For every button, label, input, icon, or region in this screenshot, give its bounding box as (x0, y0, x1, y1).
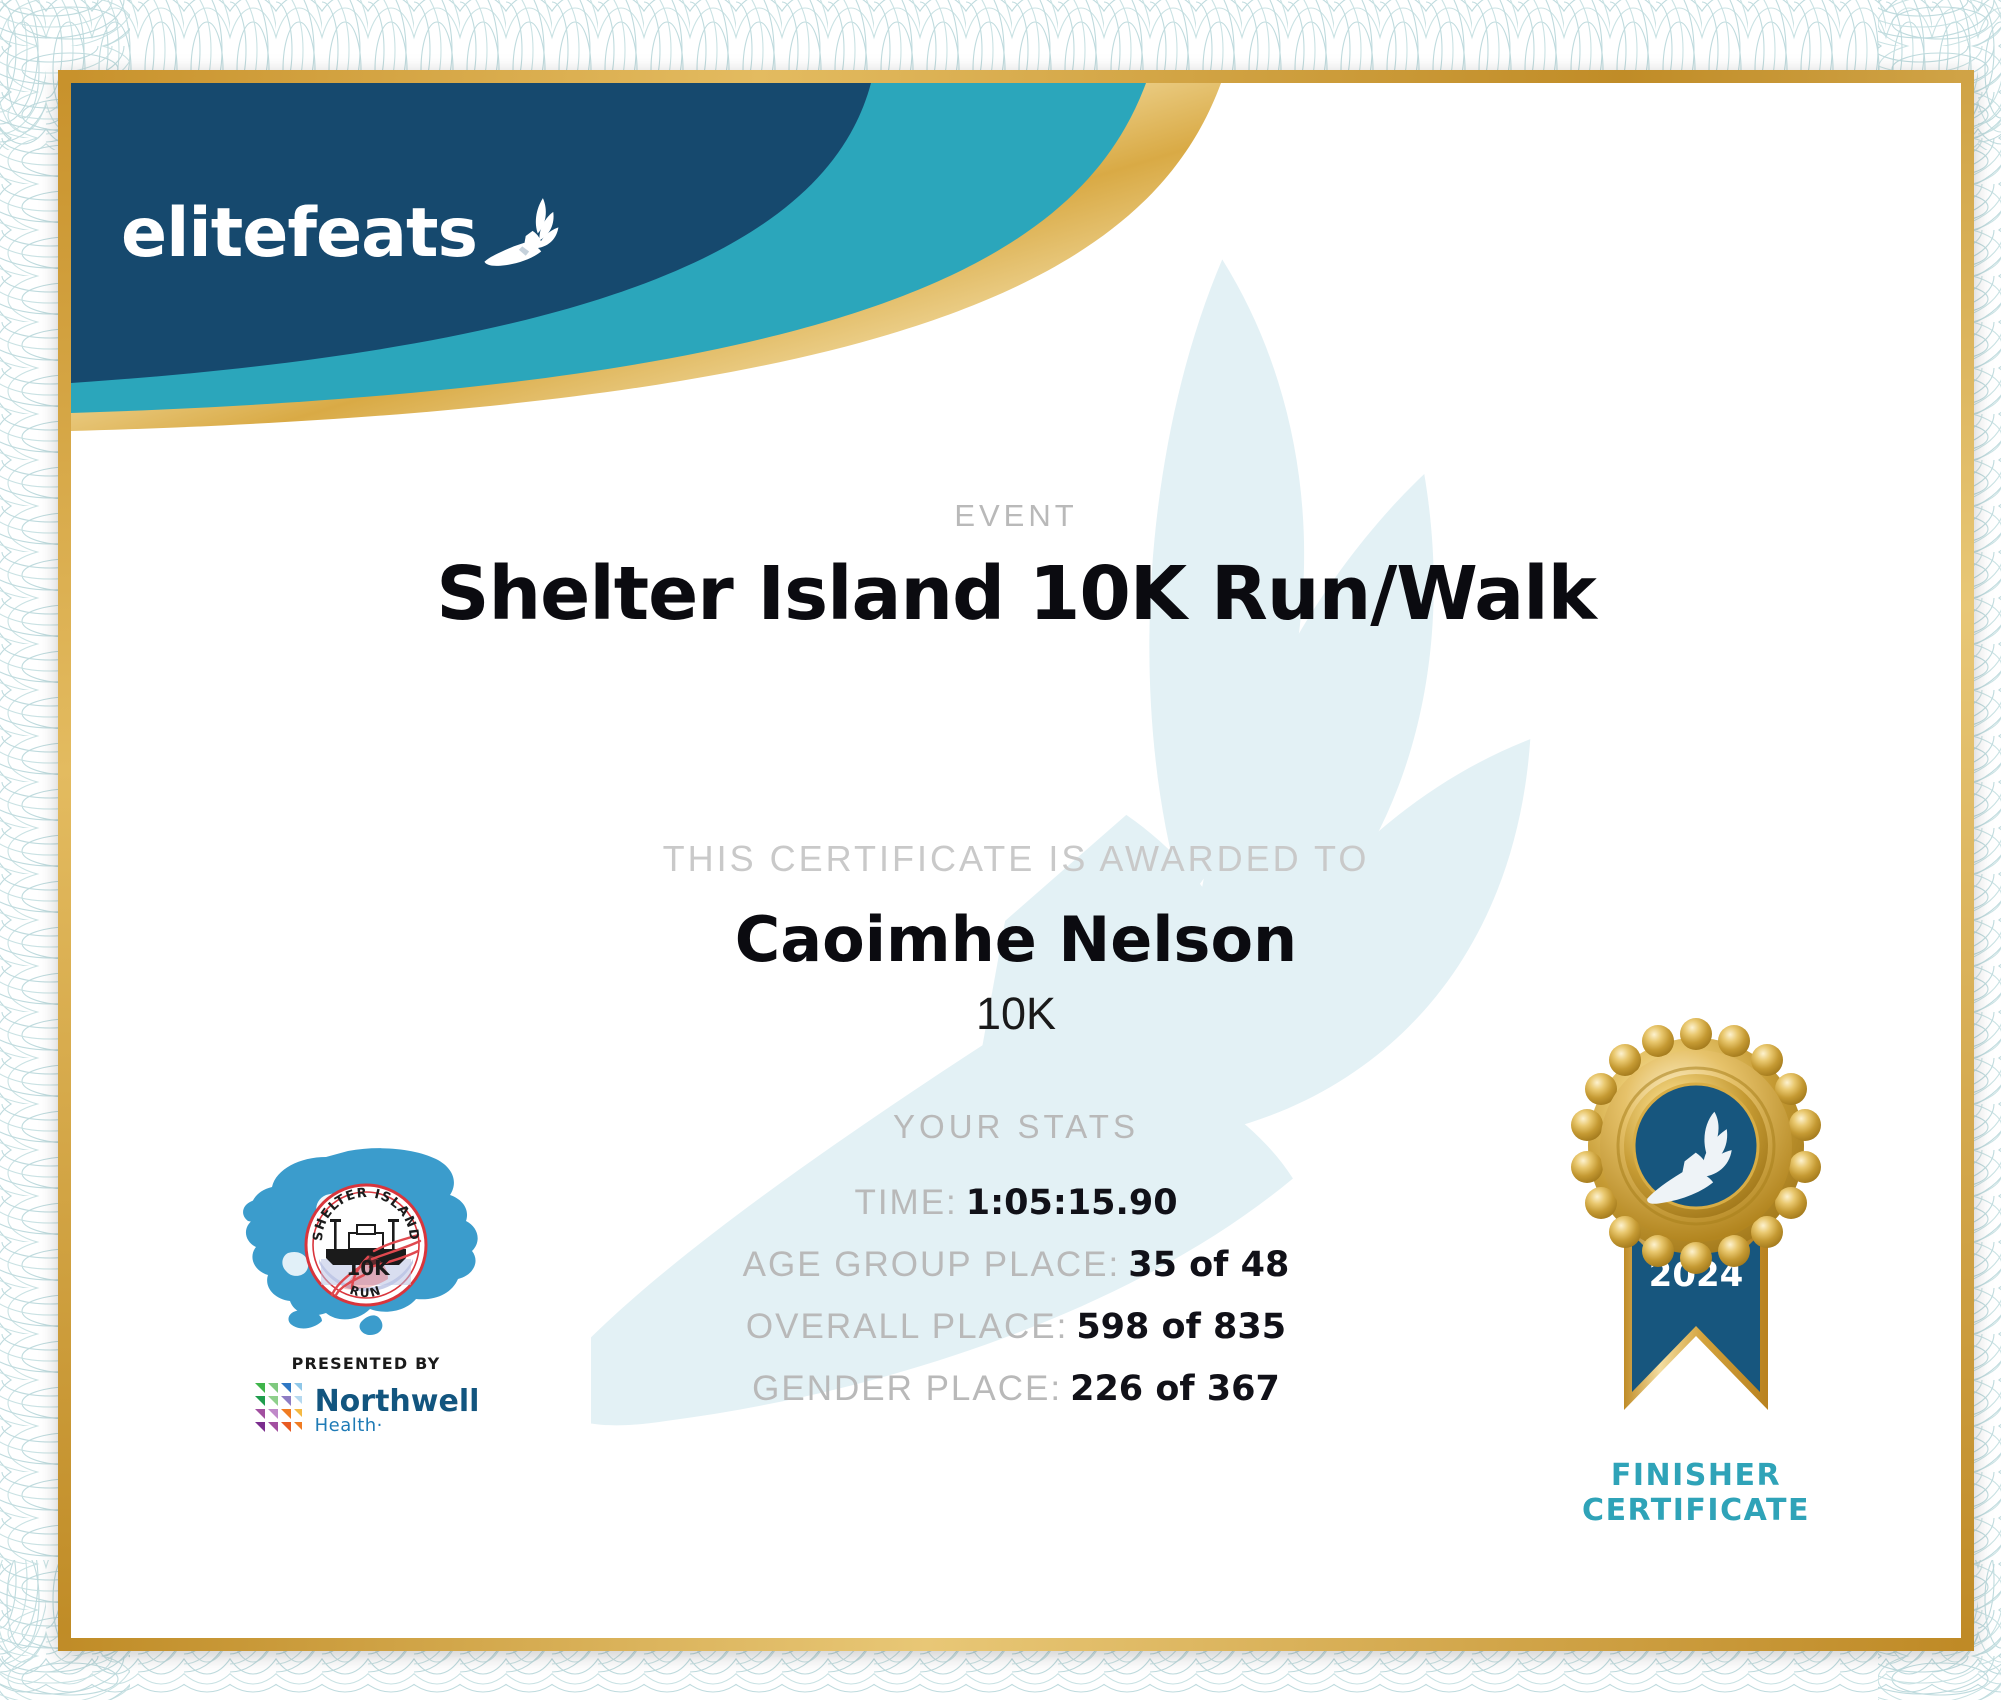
finisher-medal-badge: 2024 (1501, 1018, 1891, 1528)
recipient-name: Caoimhe Nelson (71, 903, 1961, 976)
northwell-name: Northwell (315, 1387, 480, 1417)
shelter-island-logo-icon: SHELTER ISLAND RUN 10K (211, 1143, 521, 1348)
stat-key: GENDER PLACE: (752, 1369, 1062, 1408)
medal-caption: FINISHER CERTIFICATE (1501, 1459, 1891, 1528)
stat-key: OVERALL PLACE: (746, 1307, 1068, 1346)
stat-key: TIME: (854, 1183, 957, 1222)
stat-value: 598 of 835 (1076, 1307, 1286, 1347)
northwell-mark-icon (253, 1381, 309, 1440)
stat-value: 226 of 367 (1070, 1369, 1280, 1409)
awarded-to-label: THIS CERTIFICATE IS AWARDED TO (71, 838, 1961, 880)
certificate-content: EVENT Shelter Island 10K Run/Walk THIS C… (71, 83, 1961, 1638)
certificate-card: elitefeats (58, 70, 1974, 1651)
stat-value: 1:05:15.90 (966, 1183, 1178, 1223)
stat-key: AGE GROUP PLACE: (743, 1245, 1121, 1284)
event-logo-block: SHELTER ISLAND RUN 10K PRESENTED BY (211, 1143, 521, 1440)
northwell-health-logo: Northwell Health· (211, 1381, 521, 1440)
stat-value: 35 of 48 (1128, 1245, 1289, 1285)
svg-text:10K: 10K (346, 1256, 391, 1280)
presented-by-label: PRESENTED BY (211, 1354, 521, 1373)
medal-caption-line2: CERTIFICATE (1501, 1494, 1891, 1529)
event-title: Shelter Island 10K Run/Walk (71, 551, 1961, 637)
medal-caption-line1: FINISHER (1501, 1459, 1891, 1494)
certificate-page: elitefeats (0, 0, 2001, 1700)
northwell-sub: Health· (315, 1417, 480, 1435)
event-label: EVENT (71, 498, 1961, 534)
